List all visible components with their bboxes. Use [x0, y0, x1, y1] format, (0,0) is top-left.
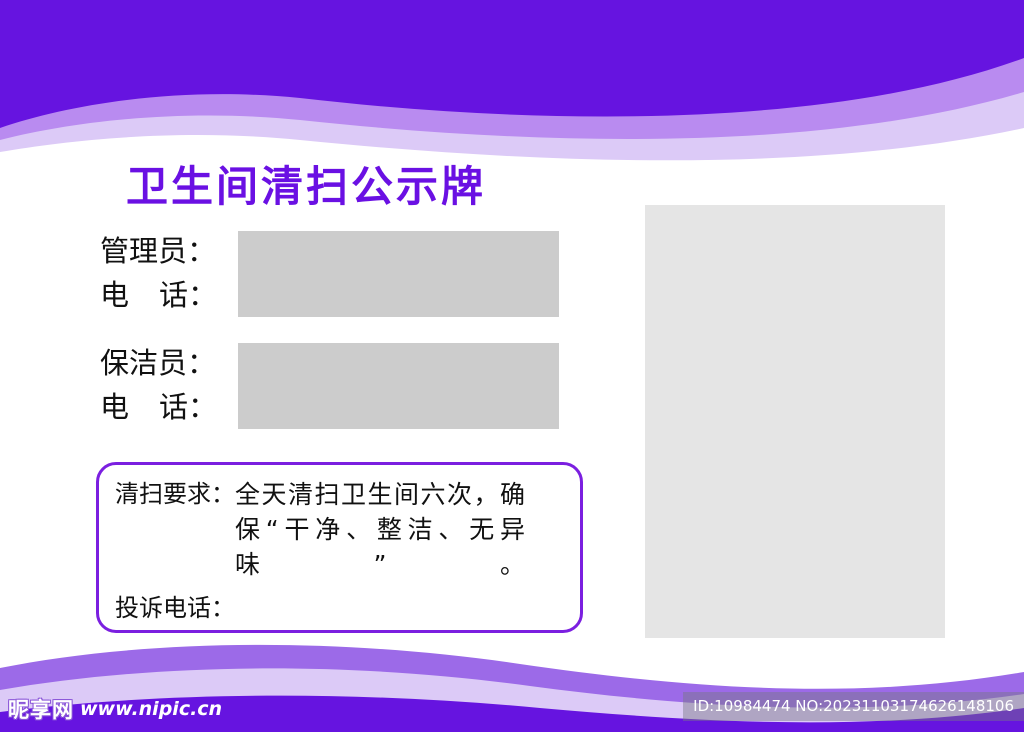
- manager-phone-label: 电 话：: [100, 273, 238, 317]
- complaint-label: 投诉电话：: [115, 591, 235, 626]
- top-wave-light: [0, 0, 1024, 160]
- manager-phone-label-colon: ：: [188, 278, 217, 312]
- cleaner-value-field[interactable]: [238, 343, 559, 429]
- form-group-manager: 管理员： 电 话：: [100, 231, 559, 317]
- requirement-label: 清扫要求：: [115, 477, 235, 512]
- page-title: 卫生间清扫公示牌: [126, 153, 486, 214]
- watermark-logo-mark: 昵享网: [8, 694, 74, 724]
- cleaner-name-label: 保洁员：: [100, 341, 238, 385]
- watermark-logo: 昵享网 www.nipic.cn: [8, 694, 222, 724]
- cleaner-phone-label-colon: ：: [188, 390, 217, 424]
- photo-placeholder[interactable]: [645, 205, 945, 638]
- cleaner-phone-label-chars: 电 话: [100, 385, 188, 429]
- top-wave-mid: [0, 0, 1024, 140]
- requirement-box: 清扫要求： 全天清扫卫生间六次，确保“干净、整洁、无异味”。 投诉电话：: [96, 462, 583, 633]
- watermark-id-badge: ID:10984474 NO:20231103174626148106: [683, 692, 1024, 721]
- manager-labels: 管理员： 电 话：: [100, 229, 238, 317]
- manager-phone-label-chars: 电 话: [100, 273, 188, 317]
- complaint-row: 投诉电话：: [115, 591, 235, 626]
- manager-name-label: 管理员：: [100, 229, 238, 273]
- manager-value-field[interactable]: [238, 231, 559, 317]
- poster-canvas: 卫生间清扫公示牌 管理员： 电 话： 保洁员： 电 话： 清扫要求： 全天清扫卫…: [0, 0, 1024, 732]
- form-group-cleaner: 保洁员： 电 话：: [100, 343, 559, 429]
- watermark-logo-url: www.nipic.cn: [80, 698, 222, 720]
- cleaner-phone-label: 电 话：: [100, 385, 238, 429]
- cleaner-labels: 保洁员： 电 话：: [100, 341, 238, 429]
- top-wave-dark: [0, 0, 1024, 128]
- requirement-text: 全天清扫卫生间六次，确保“干净、整洁、无异味”。: [235, 477, 525, 582]
- requirement-row: 清扫要求： 全天清扫卫生间六次，确保“干净、整洁、无异味”。: [115, 477, 525, 582]
